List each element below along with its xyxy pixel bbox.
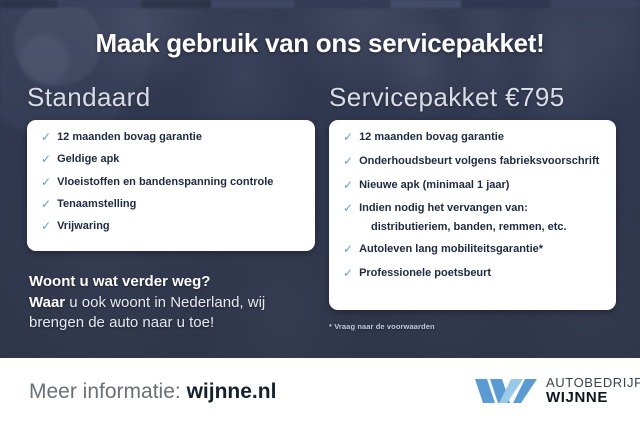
list-item-label: Vloeistoffen en bandenspanning controle [57, 176, 273, 190]
list-item-label: Onderhoudsbeurt volgens fabrieksvoorschr… [359, 155, 599, 169]
check-icon: ✓ [41, 176, 51, 189]
footer-prefix: Meer informatie: [29, 380, 187, 403]
check-icon: ✓ [41, 220, 51, 233]
column-heading-standaard: Standaard [27, 82, 151, 113]
service-package-banner: Maak gebruik van ons servicepakket! Stan… [0, 0, 640, 427]
list-item: ✓ Indien nodig het vervangen van: [343, 202, 602, 216]
logo-line-2: WIJNNE [546, 390, 640, 405]
promo-line-2-bold: Waar [29, 294, 65, 311]
list-item: ✓ Vrijwaring [41, 220, 301, 234]
list-item: ✓ Professionele poetsbeurt [343, 267, 602, 281]
list-item: ✓ Vloeistoffen en bandenspanning control… [41, 176, 301, 190]
list-item: ✓ Autoleven lang mobiliteitsgarantie* [343, 243, 602, 257]
logo-wordmark: AUTOBEDRIJF WIJNNE [546, 376, 640, 405]
footer-bar: Meer informatie: wijnne.nl AUTOBEDRIJF W… [0, 358, 640, 427]
logo-line-1: AUTOBEDRIJF [546, 376, 640, 389]
column-heading-servicepakket: Servicepakket €795 [329, 82, 565, 113]
w-mark-icon [475, 377, 537, 405]
servicepakket-feature-list: ✓ 12 maanden bovag garantie ✓ Onderhouds… [329, 120, 616, 281]
standaard-feature-list: ✓ 12 maanden bovag garantie ✓ Geldige ap… [27, 120, 315, 234]
footer-more-info: Meer informatie: wijnne.nl [29, 380, 276, 404]
background-top-stripe [0, 0, 640, 8]
promo-line-2: Waar u ook woont in Nederland, wij [29, 293, 329, 314]
list-item: ✓ 12 maanden bovag garantie [41, 131, 301, 145]
list-item: ✓ Nieuwe apk (minimaal 1 jaar) [343, 179, 602, 193]
promo-line-2-rest: u ook woont in Nederland, wij [65, 294, 265, 311]
list-item-label: Geldige apk [57, 153, 119, 167]
check-icon: ✓ [343, 155, 353, 168]
list-item-label: Indien nodig het vervangen van: [359, 202, 528, 216]
servicepakket-card: ✓ 12 maanden bovag garantie ✓ Onderhouds… [329, 120, 616, 310]
list-item: ✓ Tenaamstelling [41, 198, 301, 212]
website-link[interactable]: wijnne.nl [187, 380, 277, 403]
check-icon: ✓ [343, 131, 353, 144]
list-item-label: 12 maanden bovag garantie [57, 131, 202, 145]
check-icon: ✓ [41, 131, 51, 144]
check-icon: ✓ [343, 243, 353, 256]
check-icon: ✓ [343, 179, 353, 192]
list-item: ✓ 12 maanden bovag garantie [343, 131, 602, 145]
promo-line-1: Woont u wat verder weg? [29, 272, 329, 293]
list-item-label: Vrijwaring [57, 220, 110, 234]
promo-line-3: brengen de auto naar u toe! [29, 313, 329, 334]
brand-logo[interactable]: AUTOBEDRIJF WIJNNE [475, 376, 640, 405]
standaard-card: ✓ 12 maanden bovag garantie ✓ Geldige ap… [27, 120, 315, 251]
list-item-label: 12 maanden bovag garantie [359, 131, 504, 145]
check-icon: ✓ [343, 202, 353, 215]
check-icon: ✓ [41, 153, 51, 166]
check-icon: ✓ [343, 267, 353, 280]
check-icon: ✓ [41, 198, 51, 211]
list-item-label: Professionele poetsbeurt [359, 267, 491, 281]
list-item: ✓ Onderhoudsbeurt volgens fabrieksvoorsc… [343, 155, 602, 169]
list-item-continuation: distributieriem, banden, remmen, etc. [371, 221, 602, 233]
list-item-label: Nieuwe apk (minimaal 1 jaar) [359, 179, 509, 193]
promo-text-block: Woont u wat verder weg? Waar u ook woont… [29, 272, 329, 334]
list-item: ✓ Geldige apk [41, 153, 301, 167]
list-item-label: Autoleven lang mobiliteitsgarantie* [359, 243, 543, 257]
page-title: Maak gebruik van ons servicepakket! [0, 28, 640, 59]
footnote-voorwaarden: * Vraag naar de voorwaarden [329, 322, 435, 331]
list-item-label: Tenaamstelling [57, 198, 136, 212]
